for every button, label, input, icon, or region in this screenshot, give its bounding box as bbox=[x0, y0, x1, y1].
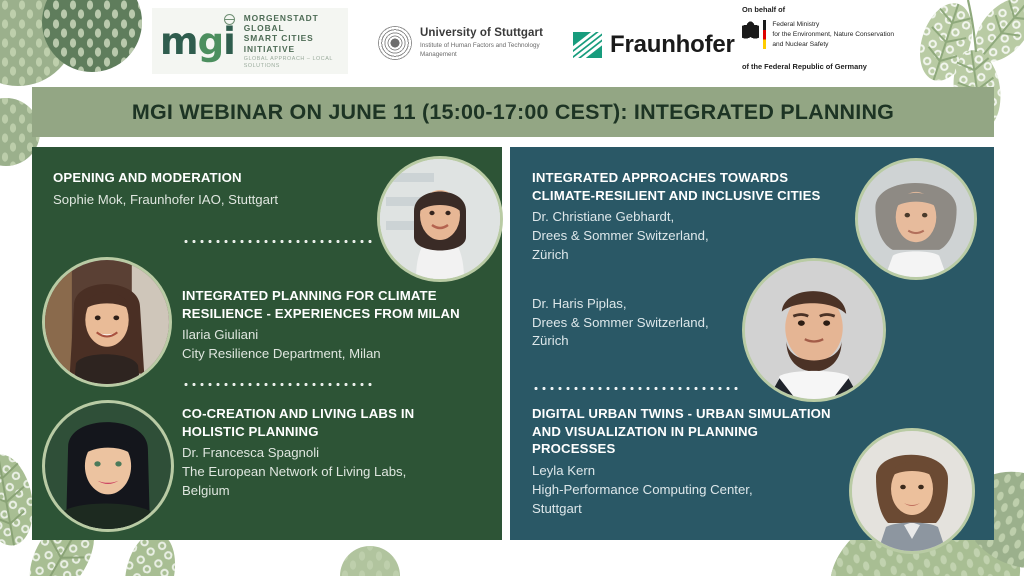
globe-icon bbox=[224, 14, 235, 25]
divider-dots bbox=[182, 240, 374, 243]
mgi-tagline-line1: MORGENSTADT GLOBAL bbox=[244, 13, 340, 34]
federal-eagle-icon bbox=[742, 20, 759, 39]
session-block-opening: OPENING AND MODERATION Sophie Mok, Fraun… bbox=[53, 169, 371, 209]
session-speaker: Ilaria Giuliani bbox=[182, 326, 494, 345]
avatar bbox=[45, 403, 171, 529]
session-speaker: Dr. Christiane Gebhardt, bbox=[532, 208, 862, 227]
ministry-on-behalf-text: On behalf of bbox=[742, 5, 785, 14]
ministry-name-line3: and Nuclear Safety bbox=[772, 40, 894, 50]
session-affiliation: High-Performance Computing Center, bbox=[532, 481, 880, 500]
fraunhofer-mark-icon bbox=[573, 32, 602, 58]
session-speaker: Leyla Kern bbox=[532, 462, 880, 481]
session-heading: OPENING AND MODERATION bbox=[53, 169, 371, 187]
session-heading-line2: HOLISTIC PLANNING bbox=[182, 423, 494, 441]
divider-dots bbox=[532, 387, 742, 390]
avatar bbox=[45, 260, 169, 384]
mgi-letter-g: g bbox=[198, 20, 224, 63]
mgi-tagline-line2: SMART CITIES INITIATIVE bbox=[244, 33, 340, 54]
ministry-name-line2: for the Environment, Nature Conservation bbox=[772, 30, 894, 40]
portrait-haris-piplas bbox=[742, 258, 886, 402]
session-affiliation: City Resilience Department, Milan bbox=[182, 345, 494, 364]
mgi-letter-i: i bbox=[223, 20, 235, 63]
university-name: University of Stuttgart bbox=[420, 27, 546, 39]
session-block-digital-twins: DIGITAL URBAN TWINS - URBAN SIMULATION A… bbox=[532, 405, 880, 518]
session-block-inclusive-cities: INTEGRATED APPROACHES TOWARDS CLIMATE-RE… bbox=[532, 169, 862, 265]
session-heading-line3: PROCESSES bbox=[532, 440, 880, 458]
portrait-leyla-kern bbox=[849, 428, 975, 554]
german-flag-bar-icon bbox=[763, 20, 766, 49]
mgi-letter-m: m bbox=[160, 20, 198, 63]
session-affiliation: Drees & Sommer Switzerland, bbox=[532, 227, 862, 246]
session-speaker: Dr. Francesca Spagnoli bbox=[182, 444, 494, 463]
mgi-tagline: MORGENSTADT GLOBAL SMART CITIES INITIATI… bbox=[244, 13, 340, 69]
session-block-milan: INTEGRATED PLANNING FOR CLIMATE RESILIEN… bbox=[182, 287, 494, 364]
session-affiliation: The European Network of Living Labs, bbox=[182, 463, 494, 482]
portrait-sophie-mok bbox=[377, 156, 503, 282]
session-heading-line2: AND VISUALIZATION IN PLANNING bbox=[532, 423, 880, 441]
fraunhofer-name: Fraunhofer bbox=[610, 31, 735, 59]
session-speaker: Sophie Mok, Fraunhofer IAO, Stuttgart bbox=[53, 191, 371, 210]
mgi-tagline-line3: GLOBAL APPROACH – LOCAL SOLUTIONS bbox=[244, 56, 340, 69]
session-block-living-labs: CO-CREATION AND LIVING LABS IN HOLISTIC … bbox=[182, 405, 494, 501]
fraunhofer-logo: Fraunhofer bbox=[573, 31, 735, 59]
webinar-title-banner: MGI WEBINAR ON JUNE 11 (15:00-17:00 CEST… bbox=[32, 87, 994, 137]
session-heading-line1: INTEGRATED APPROACHES TOWARDS bbox=[532, 169, 862, 187]
university-of-stuttgart-logo: University of Stuttgart Institute of Hum… bbox=[378, 26, 546, 60]
session-heading-line1: INTEGRATED PLANNING FOR CLIMATE bbox=[182, 287, 494, 305]
session-heading-line1: DIGITAL URBAN TWINS - URBAN SIMULATION bbox=[532, 405, 880, 423]
page-title: MGI WEBINAR ON JUNE 11 (15:00-17:00 CEST… bbox=[132, 100, 894, 125]
session-location: Belgium bbox=[182, 482, 494, 501]
session-heading-line1: CO-CREATION AND LIVING LABS IN bbox=[182, 405, 494, 423]
logo-bar: mgi MORGENSTADT GLOBAL SMART CITIES INIT… bbox=[0, 0, 1024, 86]
avatar bbox=[858, 161, 974, 277]
portrait-francesca-spagnoli bbox=[42, 400, 174, 532]
session-location: Stuttgart bbox=[532, 500, 880, 519]
session-heading-line2: CLIMATE-RESILIENT AND INCLUSIVE CITIES bbox=[532, 187, 862, 205]
university-seal-icon bbox=[378, 26, 412, 60]
avatar bbox=[380, 159, 500, 279]
federal-ministry-logo: On behalf of Federal Ministry for the En… bbox=[742, 5, 894, 71]
mgi-wordmark: mgi bbox=[160, 23, 235, 60]
avatar bbox=[745, 261, 883, 399]
mgi-logo: mgi MORGENSTADT GLOBAL SMART CITIES INIT… bbox=[152, 8, 348, 74]
university-institute: Institute of Human Factors and Technolog… bbox=[420, 41, 546, 59]
ministry-name-line1: Federal Ministry bbox=[772, 20, 894, 30]
portrait-ilaria-giuliani bbox=[42, 257, 172, 387]
divider-dots bbox=[182, 383, 374, 386]
avatar bbox=[852, 431, 972, 551]
ministry-footer-text: of the Federal Republic of Germany bbox=[742, 62, 867, 71]
session-heading-line2: RESILIENCE - EXPERIENCES FROM MILAN bbox=[182, 305, 494, 323]
